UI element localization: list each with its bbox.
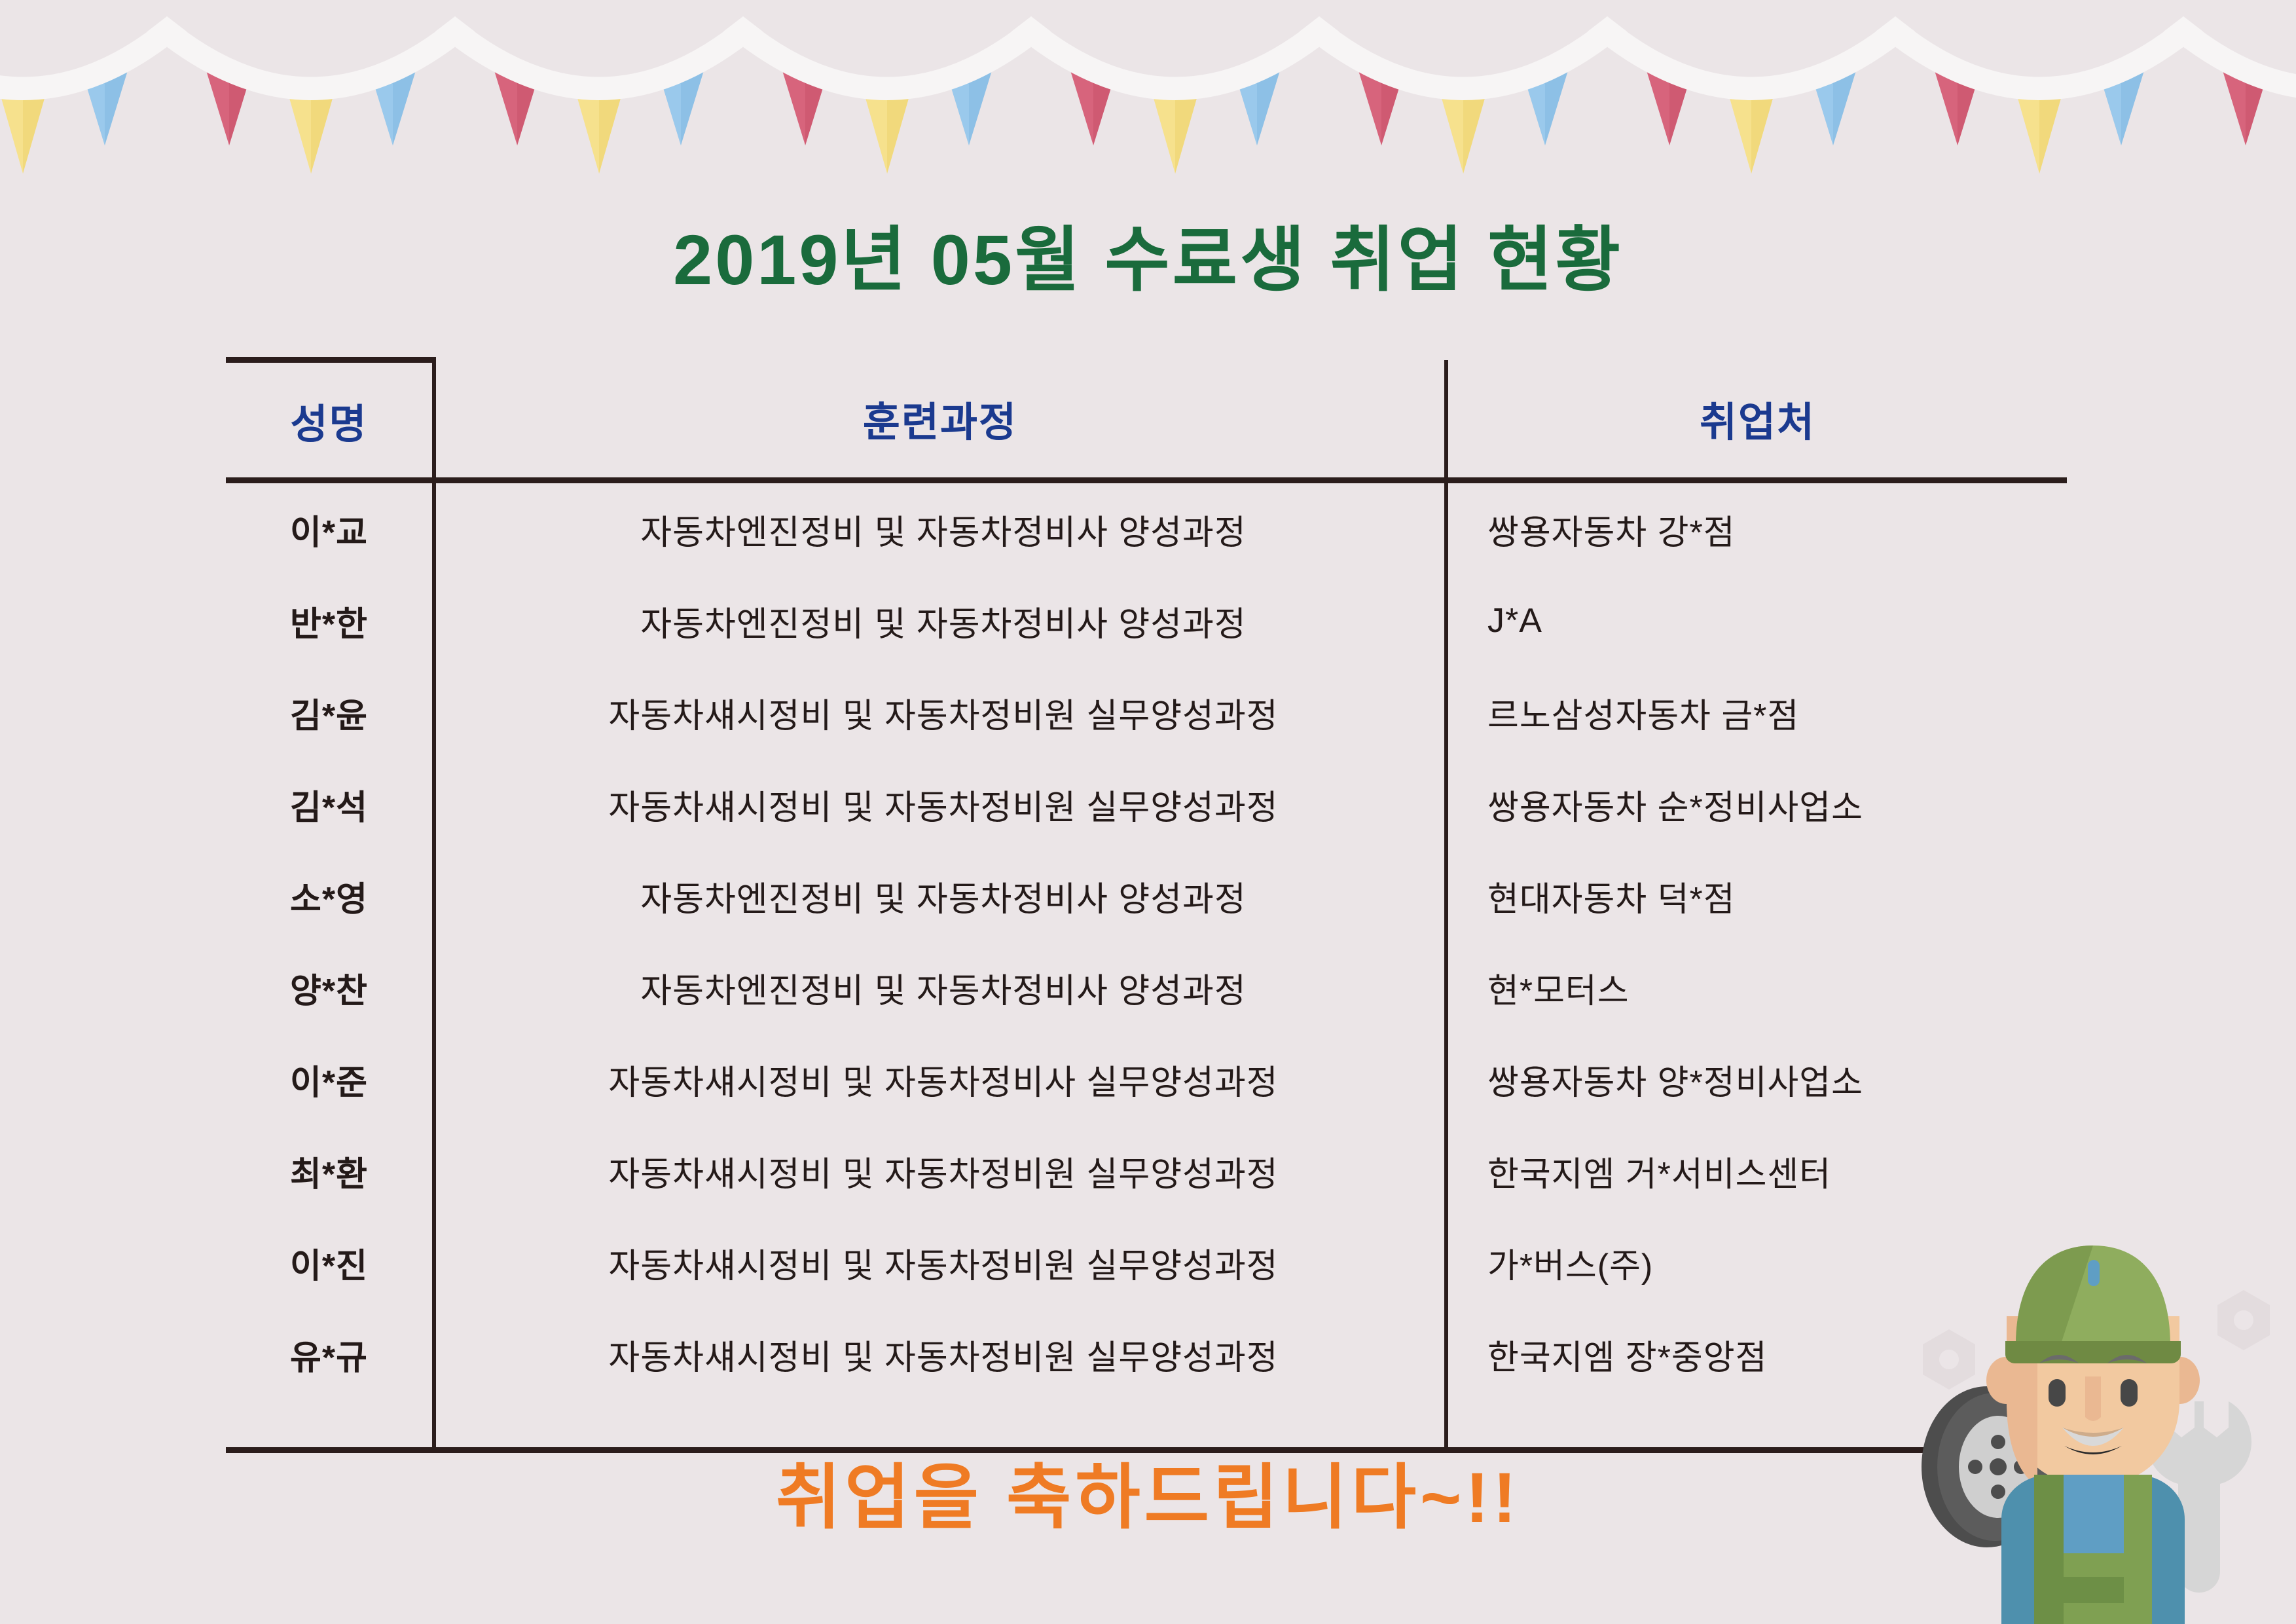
cell-company: 현*모터스 <box>1446 942 2067 1033</box>
table-row: 양*찬 자동차엔진정비 및 자동차정비사 양성과정 현*모터스 <box>226 942 2067 1033</box>
cell-name: 반*한 <box>226 575 434 667</box>
cell-company: 쌍용자동차 강*점 <box>1446 481 2067 576</box>
cell-company: 현대자동차 덕*점 <box>1446 850 2067 942</box>
cell-course: 자동차섀시정비 및 자동차정비원 실무양성과정 <box>434 1308 1446 1400</box>
table-row: 유*규 자동차섀시정비 및 자동차정비원 실무양성과정 한국지엠 장*중앙점 <box>226 1308 2067 1400</box>
congratulations-message: 취업을 축하드립니다~!! <box>0 1441 2296 1543</box>
cell-course: 자동차엔진정비 및 자동차정비사 양성과정 <box>434 575 1446 667</box>
cell-name: 이*진 <box>226 1217 434 1308</box>
cell-company: J*A <box>1446 575 2067 667</box>
page-title: 2019년 05월 수료생 취업 현황 <box>0 203 2296 305</box>
cell-name: 소*영 <box>226 850 434 942</box>
column-header-company: 취업처 <box>1446 360 2067 481</box>
table-row: 이*준 자동차섀시정비 및 자동차정비사 실무양성과정 쌍용자동차 양*정비사업… <box>226 1033 2067 1125</box>
cell-course: 자동차섀시정비 및 자동차정비원 실무양성과정 <box>434 1217 1446 1308</box>
column-header-name: 성명 <box>226 360 434 481</box>
cell-name: 이*준 <box>226 1033 434 1125</box>
cell-course: 자동차엔진정비 및 자동차정비사 양성과정 <box>434 850 1446 942</box>
cell-course: 자동차섀시정비 및 자동차정비원 실무양성과정 <box>434 1125 1446 1217</box>
cell-name: 양*찬 <box>226 942 434 1033</box>
cell-course: 자동차섀시정비 및 자동차정비원 실무양성과정 <box>434 758 1446 850</box>
table-row: 이*교 자동차엔진정비 및 자동차정비사 양성과정 쌍용자동차 강*점 <box>226 481 2067 576</box>
cell-company: 한국지엠 장*중앙점 <box>1446 1308 2067 1400</box>
cell-company: 한국지엠 거*서비스센터 <box>1446 1125 2067 1217</box>
table-body: 이*교 자동차엔진정비 및 자동차정비사 양성과정 쌍용자동차 강*점 반*한 … <box>226 481 2067 1450</box>
cell-name: 이*교 <box>226 481 434 576</box>
table-row: 이*진 자동차섀시정비 및 자동차정비원 실무양성과정 가*버스(주) <box>226 1217 2067 1308</box>
employment-results-table: 성명 훈련과정 취업처 이*교 자동차엔진정비 및 자동차정비사 양성과정 쌍용… <box>226 357 2067 1453</box>
cell-name: 최*환 <box>226 1125 434 1217</box>
cell-course: 자동차엔진정비 및 자동차정비사 양성과정 <box>434 481 1446 576</box>
cell-course: 자동차엔진정비 및 자동차정비사 양성과정 <box>434 942 1446 1033</box>
cell-company: 가*버스(주) <box>1446 1217 2067 1308</box>
cell-name: 김*윤 <box>226 667 434 758</box>
cell-company: 르노삼성자동차 금*점 <box>1446 667 2067 758</box>
table-header-row: 성명 훈련과정 취업처 <box>226 360 2067 481</box>
table-row: 김*석 자동차섀시정비 및 자동차정비원 실무양성과정 쌍용자동차 순*정비사업… <box>226 758 2067 850</box>
column-header-course: 훈련과정 <box>434 360 1446 481</box>
table-row: 소*영 자동차엔진정비 및 자동차정비사 양성과정 현대자동차 덕*점 <box>226 850 2067 942</box>
cell-name: 김*석 <box>226 758 434 850</box>
party-bunting <box>0 0 2296 177</box>
cell-course: 자동차섀시정비 및 자동차정비원 실무양성과정 <box>434 667 1446 758</box>
nose-shape <box>2085 1376 2101 1421</box>
table-row: 반*한 자동차엔진정비 및 자동차정비사 양성과정 J*A <box>226 575 2067 667</box>
cell-name: 유*규 <box>226 1308 434 1400</box>
cell-course: 자동차섀시정비 및 자동차정비사 실무양성과정 <box>434 1033 1446 1125</box>
table-row: 김*윤 자동차섀시정비 및 자동차정비원 실무양성과정 르노삼성자동차 금*점 <box>226 667 2067 758</box>
table-row: 최*환 자동차섀시정비 및 자동차정비원 실무양성과정 한국지엠 거*서비스센터 <box>226 1125 2067 1217</box>
table-header: 성명 훈련과정 취업처 <box>226 360 2067 481</box>
cell-company: 쌍용자동차 양*정비사업소 <box>1446 1033 2067 1125</box>
cell-company: 쌍용자동차 순*정비사업소 <box>1446 758 2067 850</box>
